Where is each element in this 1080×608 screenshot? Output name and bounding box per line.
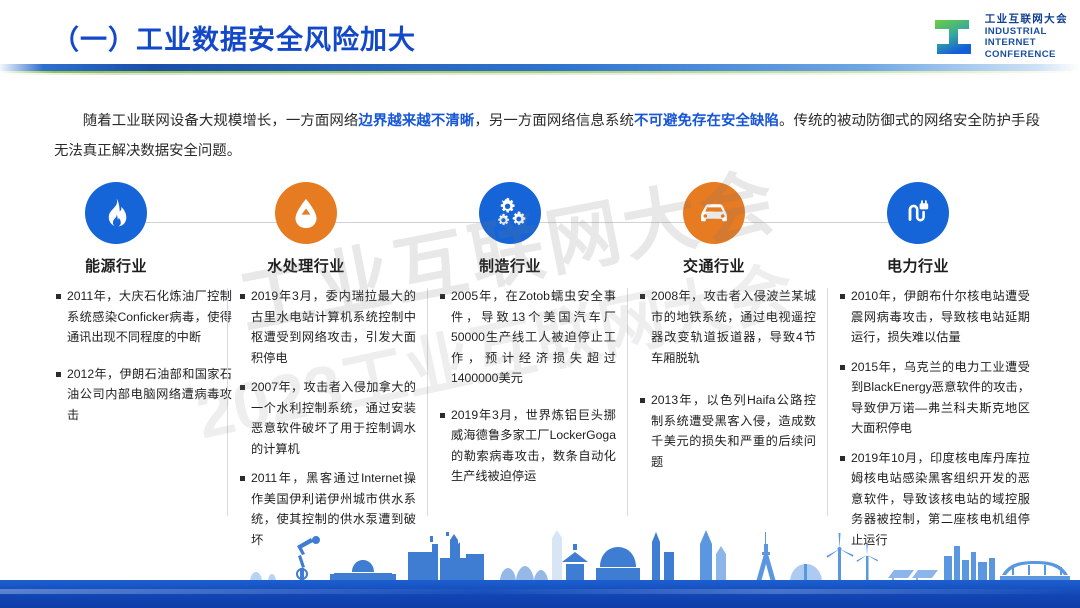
industry-item-transport[interactable]: 交通行业: [614, 182, 814, 276]
intro-paragraph: 随着工业联网设备大规模增长，一方面网络边界越来越不清晰，另一方面网络信息系统不可…: [54, 106, 1040, 166]
industry-label-energy: 能源行业: [16, 255, 216, 276]
power-bubble: [887, 182, 949, 244]
conference-logo: 工业互联网大会 INDUSTRIAL INTERNET CONFERENCE: [931, 14, 1068, 60]
industry-case-columns: 2011年，大庆石化炼油厂控制系统感染Conficker病毒，使得通讯出现不同程…: [0, 286, 1080, 531]
flame-icon: [99, 196, 133, 230]
intro-highlight-2: 不可避免存在安全缺陷: [634, 113, 779, 129]
list-item: 2008年，攻击者入侵波兰某城市的地铁系统，通过电视遥控器改变轨道扳道器，导致4…: [640, 286, 816, 368]
case-text: 2008年，攻击者入侵波兰某城市的地铁系统，通过电视遥控器改变轨道扳道器，导致4…: [651, 286, 816, 368]
list-item: 2005年，在Zotob蠕虫安全事件，导致13个美国汽车厂50000生产线工人被…: [440, 286, 616, 389]
list-item: 2013年，以色列Haifa公路控制系统遭受黑客入侵，造成数千美元的损失和严重的…: [640, 390, 816, 472]
divider-blue-band: [0, 64, 1080, 71]
industry-item-power[interactable]: 电力行业: [818, 182, 1018, 276]
column-separator: [427, 288, 428, 516]
slide-root: （一）工业数据安全风险加大 工业互联网大会 INDUSTRIAL: [0, 0, 1080, 608]
bullet-square-icon: [440, 294, 445, 299]
industry-item-water[interactable]: 水处理行业: [206, 182, 406, 276]
list-item: 2010年，伊朗布什尔核电站遭受震网病毒攻击，导致核电站延期运行，损失难以估量: [840, 286, 1030, 348]
case-text: 2012年，伊朗石油部和国家石油公司内部电脑网络遭病毒攻击: [67, 364, 232, 426]
bullet-square-icon: [840, 294, 845, 299]
bullet-square-icon: [840, 365, 845, 370]
intro-highlight-1: 边界越来越不清晰: [358, 113, 474, 129]
city-skyline-icon: [0, 528, 1080, 584]
slide-header: （一）工业数据安全风险加大 工业互联网大会 INDUSTRIAL: [0, 0, 1080, 92]
water-drop-icon: [291, 196, 321, 230]
logo-gong-mark: [931, 14, 979, 60]
logo-en-line3: CONFERENCE: [985, 50, 1068, 60]
case-text: 2019年3月，世界炼铝巨头挪威海德鲁多家工厂LockerGoga的勒索病毒攻击…: [451, 405, 616, 487]
logo-en-line1: INDUSTRIAL: [985, 27, 1068, 37]
energy-bubble: [85, 182, 147, 244]
list-item: 2007年，攻击者入侵加拿大的一个水利控制系统，通过安装恶意软件破坏了用于控制调…: [240, 377, 416, 459]
industry-item-manufacturing[interactable]: 制造行业: [410, 182, 610, 276]
intro-part-2: ，另一方面网络信息系统: [474, 113, 634, 129]
list-item: 2019年3月，世界炼铝巨头挪威海德鲁多家工厂LockerGoga的勒索病毒攻击…: [440, 405, 616, 487]
divider-gray-band: [0, 73, 1080, 75]
case-text: 2019年3月，委内瑞拉最大的古里水电站计算机系统控制中枢遭受到网络攻击，引发大…: [251, 286, 416, 368]
footer-decoration: [0, 530, 1080, 608]
page-title: （一）工业数据安全风险加大: [52, 18, 416, 57]
case-text: 2011年，大庆石化炼油厂控制系统感染Conficker病毒，使得通讯出现不同程…: [67, 286, 232, 348]
case-text: 2010年，伊朗布什尔核电站遭受震网病毒攻击，导致核电站延期运行，损失难以估量: [851, 286, 1030, 348]
title-divider-bar: [0, 64, 1080, 76]
list-item: 2011年，大庆石化炼油厂控制系统感染Conficker病毒，使得通讯出现不同程…: [56, 286, 232, 348]
car-icon: [696, 198, 732, 228]
bullet-square-icon: [440, 413, 445, 418]
logo-text-block: 工业互联网大会 INDUSTRIAL INTERNET CONFERENCE: [985, 14, 1068, 59]
gears-icon: [493, 196, 527, 230]
sea-highlight: [0, 589, 1080, 594]
case-text: 2013年，以色列Haifa公路控制系统遭受黑客入侵，造成数千美元的损失和严重的…: [651, 390, 816, 472]
logo-en-line2: INTERNET: [985, 38, 1068, 48]
sea-band: [0, 580, 1080, 608]
case-column-energy: 2011年，大庆石化炼油厂控制系统感染Conficker病毒，使得通讯出现不同程…: [56, 286, 232, 434]
water-bubble: [275, 182, 337, 244]
bullet-square-icon: [640, 398, 645, 403]
bullet-square-icon: [240, 294, 245, 299]
logo-chinese-name: 工业互联网大会: [985, 14, 1068, 25]
list-item: 2015年，乌克兰的电力工业遭受到BlackEnergy恶意软件的攻击，导致伊万…: [840, 357, 1030, 439]
bullet-square-icon: [240, 385, 245, 390]
industry-label-manufacturing: 制造行业: [410, 255, 610, 276]
industry-label-transport: 交通行业: [614, 255, 814, 276]
manufacturing-bubble: [479, 182, 541, 244]
column-separator: [227, 288, 228, 516]
case-column-power: 2010年，伊朗布什尔核电站遭受震网病毒攻击，导致核电站延期运行，损失难以估量 …: [840, 286, 1030, 559]
case-column-transport: 2008年，攻击者入侵波兰某城市的地铁系统，通过电视遥控器改变轨道扳道器，导致4…: [640, 286, 816, 481]
bullet-square-icon: [240, 476, 245, 481]
industry-icon-row: 能源行业 水处理行业: [0, 182, 1080, 278]
column-separator: [627, 288, 628, 516]
transport-bubble: [683, 182, 745, 244]
case-column-manufacturing: 2005年，在Zotob蠕虫安全事件，导致13个美国汽车厂50000生产线工人被…: [440, 286, 616, 496]
case-text: 2005年，在Zotob蠕虫安全事件，导致13个美国汽车厂50000生产线工人被…: [451, 286, 616, 389]
industry-item-energy[interactable]: 能源行业: [16, 182, 216, 276]
list-item: 2012年，伊朗石油部和国家石油公司内部电脑网络遭病毒攻击: [56, 364, 232, 426]
industry-label-water: 水处理行业: [206, 255, 406, 276]
case-text: 2007年，攻击者入侵加拿大的一个水利控制系统，通过安装恶意软件破坏了用于控制调…: [251, 377, 416, 459]
bullet-square-icon: [56, 372, 61, 377]
case-text: 2015年，乌克兰的电力工业遭受到BlackEnergy恶意软件的攻击，导致伊万…: [851, 357, 1030, 439]
list-item: 2019年3月，委内瑞拉最大的古里水电站计算机系统控制中枢遭受到网络攻击，引发大…: [240, 286, 416, 368]
intro-part-1: 随着工业联网设备大规模增长，一方面网络: [83, 113, 359, 129]
industry-label-power: 电力行业: [818, 255, 1018, 276]
bullet-square-icon: [56, 294, 61, 299]
case-column-water: 2019年3月，委内瑞拉最大的古里水电站计算机系统控制中枢遭受到网络攻击，引发大…: [240, 286, 416, 559]
bullet-square-icon: [840, 456, 845, 461]
power-plug-icon: [901, 197, 935, 229]
bullet-square-icon: [640, 294, 645, 299]
column-separator: [827, 288, 828, 516]
